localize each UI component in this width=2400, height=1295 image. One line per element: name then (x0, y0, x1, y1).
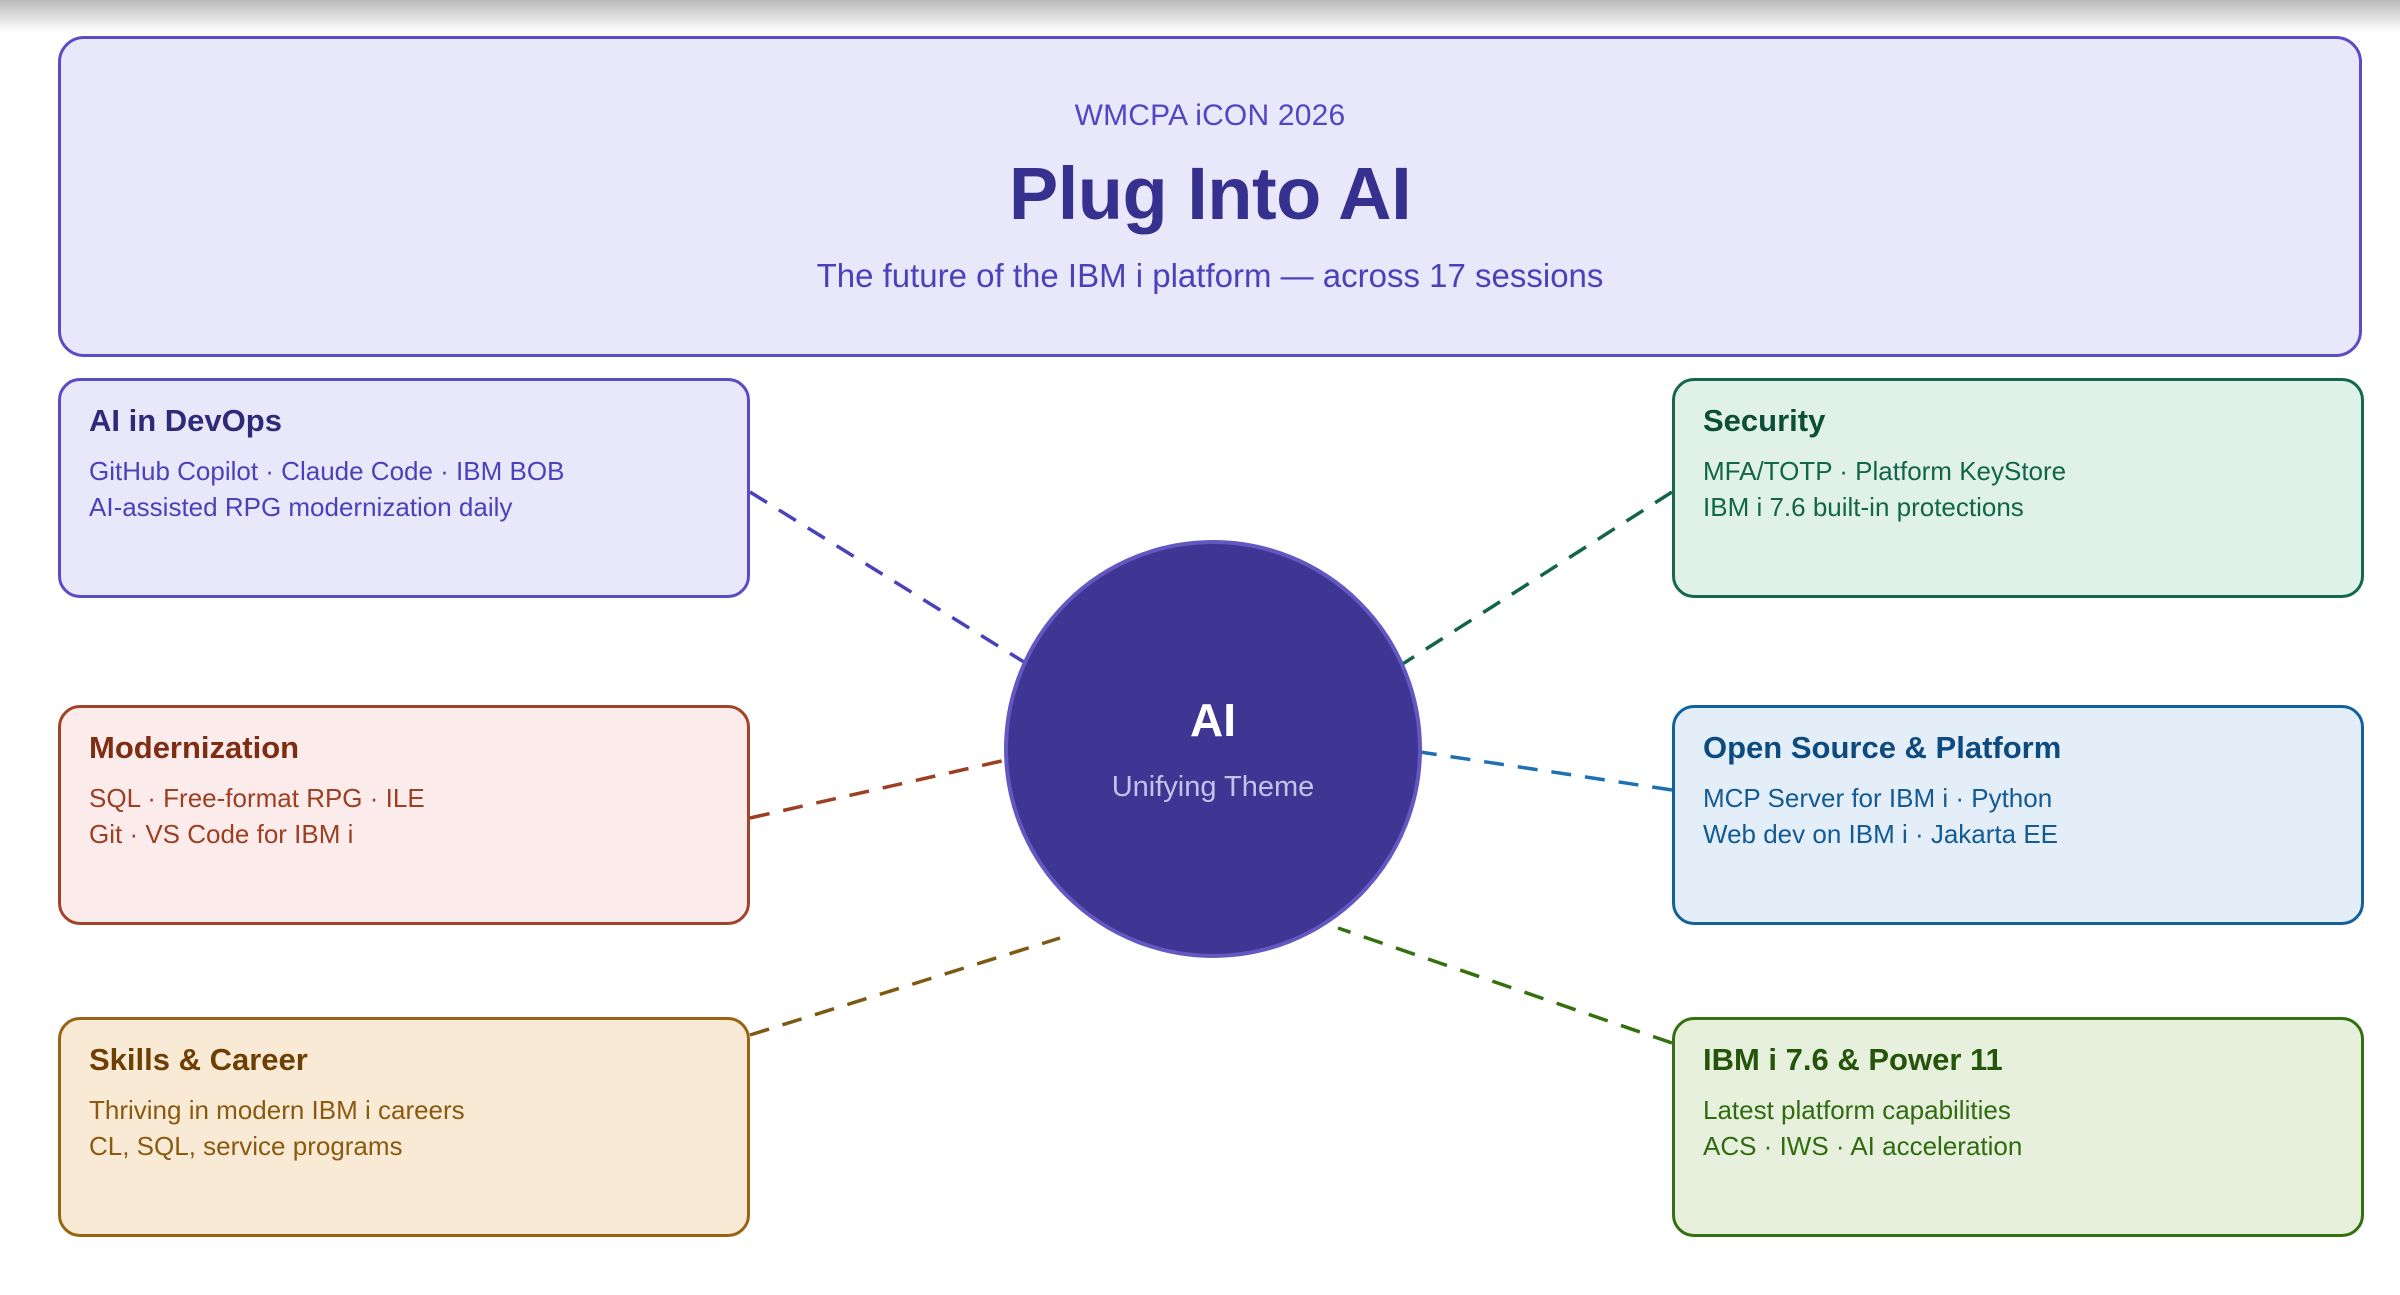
topic-card-title: AI in DevOps (89, 405, 719, 436)
event-name: WMCPA iCON 2026 (1075, 101, 1346, 131)
topic-card-detail-line: SQL · Free-format RPG · ILE (89, 781, 719, 817)
topic-card-title: Modernization (89, 732, 719, 763)
topic-card-detail-line: ACS · IWS · AI acceleration (1703, 1129, 2333, 1165)
topic-card-title: Skills & Career (89, 1044, 719, 1075)
topic-card-title: Open Source & Platform (1703, 732, 2333, 763)
topic-card-detail-line: MCP Server for IBM i · Python (1703, 781, 2333, 817)
topic-card-open-source-and-platform[interactable]: Open Source & PlatformMCP Server for IBM… (1672, 705, 2364, 925)
center-hub-label: AI (1190, 697, 1236, 743)
topic-card-modernization[interactable]: ModernizationSQL · Free-format RPG · ILE… (58, 705, 750, 925)
center-hub-sublabel: Unifying Theme (1112, 773, 1315, 802)
connector-open-source-and-platform (1420, 752, 1672, 790)
header-banner: WMCPA iCON 2026 Plug Into AI The future … (58, 36, 2362, 357)
topic-card-ai-in-devops[interactable]: AI in DevOpsGitHub Copilot · Claude Code… (58, 378, 750, 598)
topic-card-title: IBM i 7.6 & Power 11 (1703, 1044, 2333, 1075)
topic-card-detail-line: Git · VS Code for IBM i (89, 817, 719, 853)
mindmap-canvas: WMCPA iCON 2026 Plug Into AI The future … (0, 0, 2400, 1295)
topic-card-detail-line: AI-assisted RPG modernization daily (89, 490, 719, 526)
topic-card-detail-line: Latest platform capabilities (1703, 1093, 2333, 1129)
connector-ibm-i-76-and-power-11 (1338, 928, 1672, 1043)
page-title: Plug Into AI (1009, 157, 1411, 231)
page-subtitle: The future of the IBM i platform — acros… (817, 259, 1604, 292)
connector-skills-and-career (750, 938, 1060, 1035)
connector-security (1390, 492, 1672, 672)
topic-card-ibm-i-76-and-power-11[interactable]: IBM i 7.6 & Power 11Latest platform capa… (1672, 1017, 2364, 1237)
topic-card-detail-line: IBM i 7.6 built-in protections (1703, 490, 2333, 526)
topic-card-detail-line: GitHub Copilot · Claude Code · IBM BOB (89, 454, 719, 490)
topic-card-detail-line: Thriving in modern IBM i careers (89, 1093, 719, 1129)
topic-card-security[interactable]: SecurityMFA/TOTP · Platform KeyStoreIBM … (1672, 378, 2364, 598)
connector-modernization (750, 760, 1006, 818)
topic-card-detail-line: MFA/TOTP · Platform KeyStore (1703, 454, 2333, 490)
topic-card-detail-line: CL, SQL, service programs (89, 1129, 719, 1165)
topic-card-skills-and-career[interactable]: Skills & CareerThriving in modern IBM i … (58, 1017, 750, 1237)
connector-ai-in-devops (750, 492, 1040, 672)
topic-card-title: Security (1703, 405, 2333, 436)
center-hub-node[interactable]: AI Unifying Theme (1004, 540, 1422, 958)
topic-card-detail-line: Web dev on IBM i · Jakarta EE (1703, 817, 2333, 853)
